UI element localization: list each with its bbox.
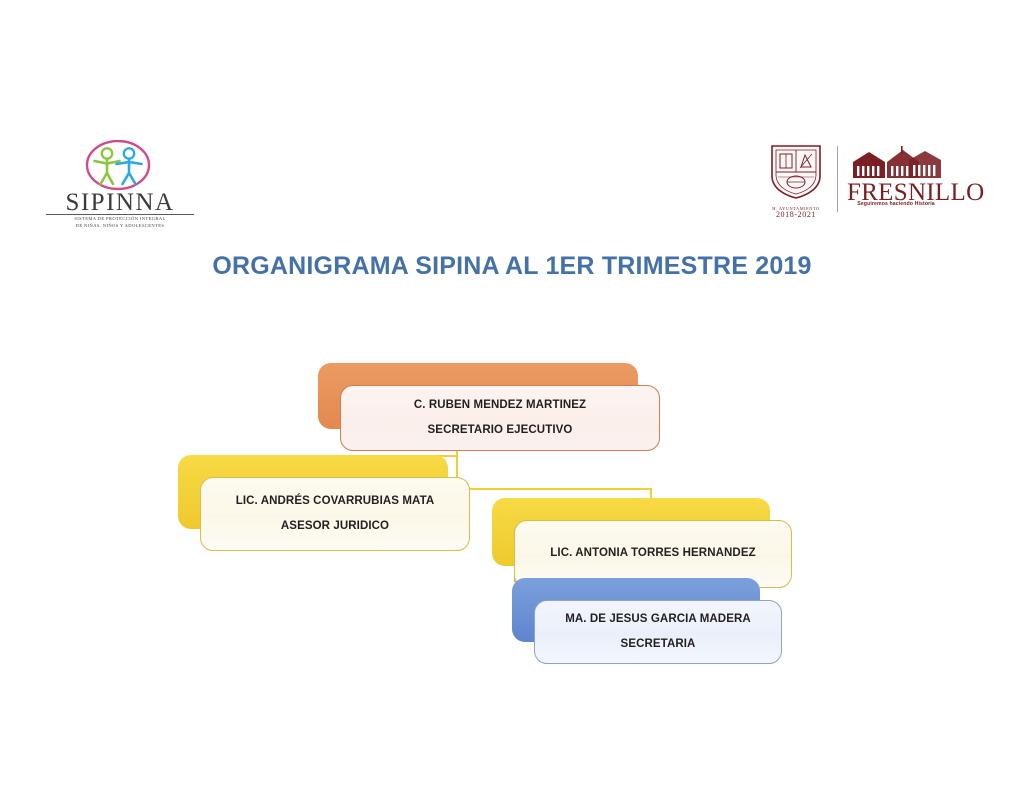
org-node-role: ASESOR JURIDICO [281,521,389,533]
org-node-face: LIC. ANDRÉS COVARRUBIAS MATA ASESOR JURI… [200,477,470,551]
org-node-name: MA. DE JESUS GARCIA MADERA [565,614,751,626]
org-node-name: LIC. ANTONIA TORRES HERNANDEZ [550,548,755,560]
org-node-name: C. RUBEN MENDEZ MARTINEZ [414,400,586,412]
slide-canvas: SIPINNA SISTEMA DE PROTECCIÓN INTEGRAL D… [0,0,1024,791]
org-node-face: MA. DE JESUS GARCIA MADERA SECRETARIA [534,600,782,664]
org-node-antonia-torres-hernandez[interactable]: LIC. ANTONIA TORRES HERNANDEZ [492,498,770,566]
org-node-secretaria[interactable]: MA. DE JESUS GARCIA MADERA SECRETARIA [512,578,760,642]
org-node-name: LIC. ANDRÉS COVARRUBIAS MATA [236,496,435,508]
org-node-face: C. RUBEN MENDEZ MARTINEZ SECRETARIO EJEC… [340,385,660,451]
org-node-secretario-ejecutivo[interactable]: C. RUBEN MENDEZ MARTINEZ SECRETARIO EJEC… [318,363,638,429]
org-node-asesor-juridico[interactable]: LIC. ANDRÉS COVARRUBIAS MATA ASESOR JURI… [178,455,448,529]
organizational-chart: C. RUBEN MENDEZ MARTINEZ SECRETARIO EJEC… [0,0,1024,791]
connector-root-to-coordinator [456,488,651,490]
org-node-role: SECRETARIO EJECUTIVO [428,425,573,437]
org-node-role: SECRETARIA [621,639,696,651]
